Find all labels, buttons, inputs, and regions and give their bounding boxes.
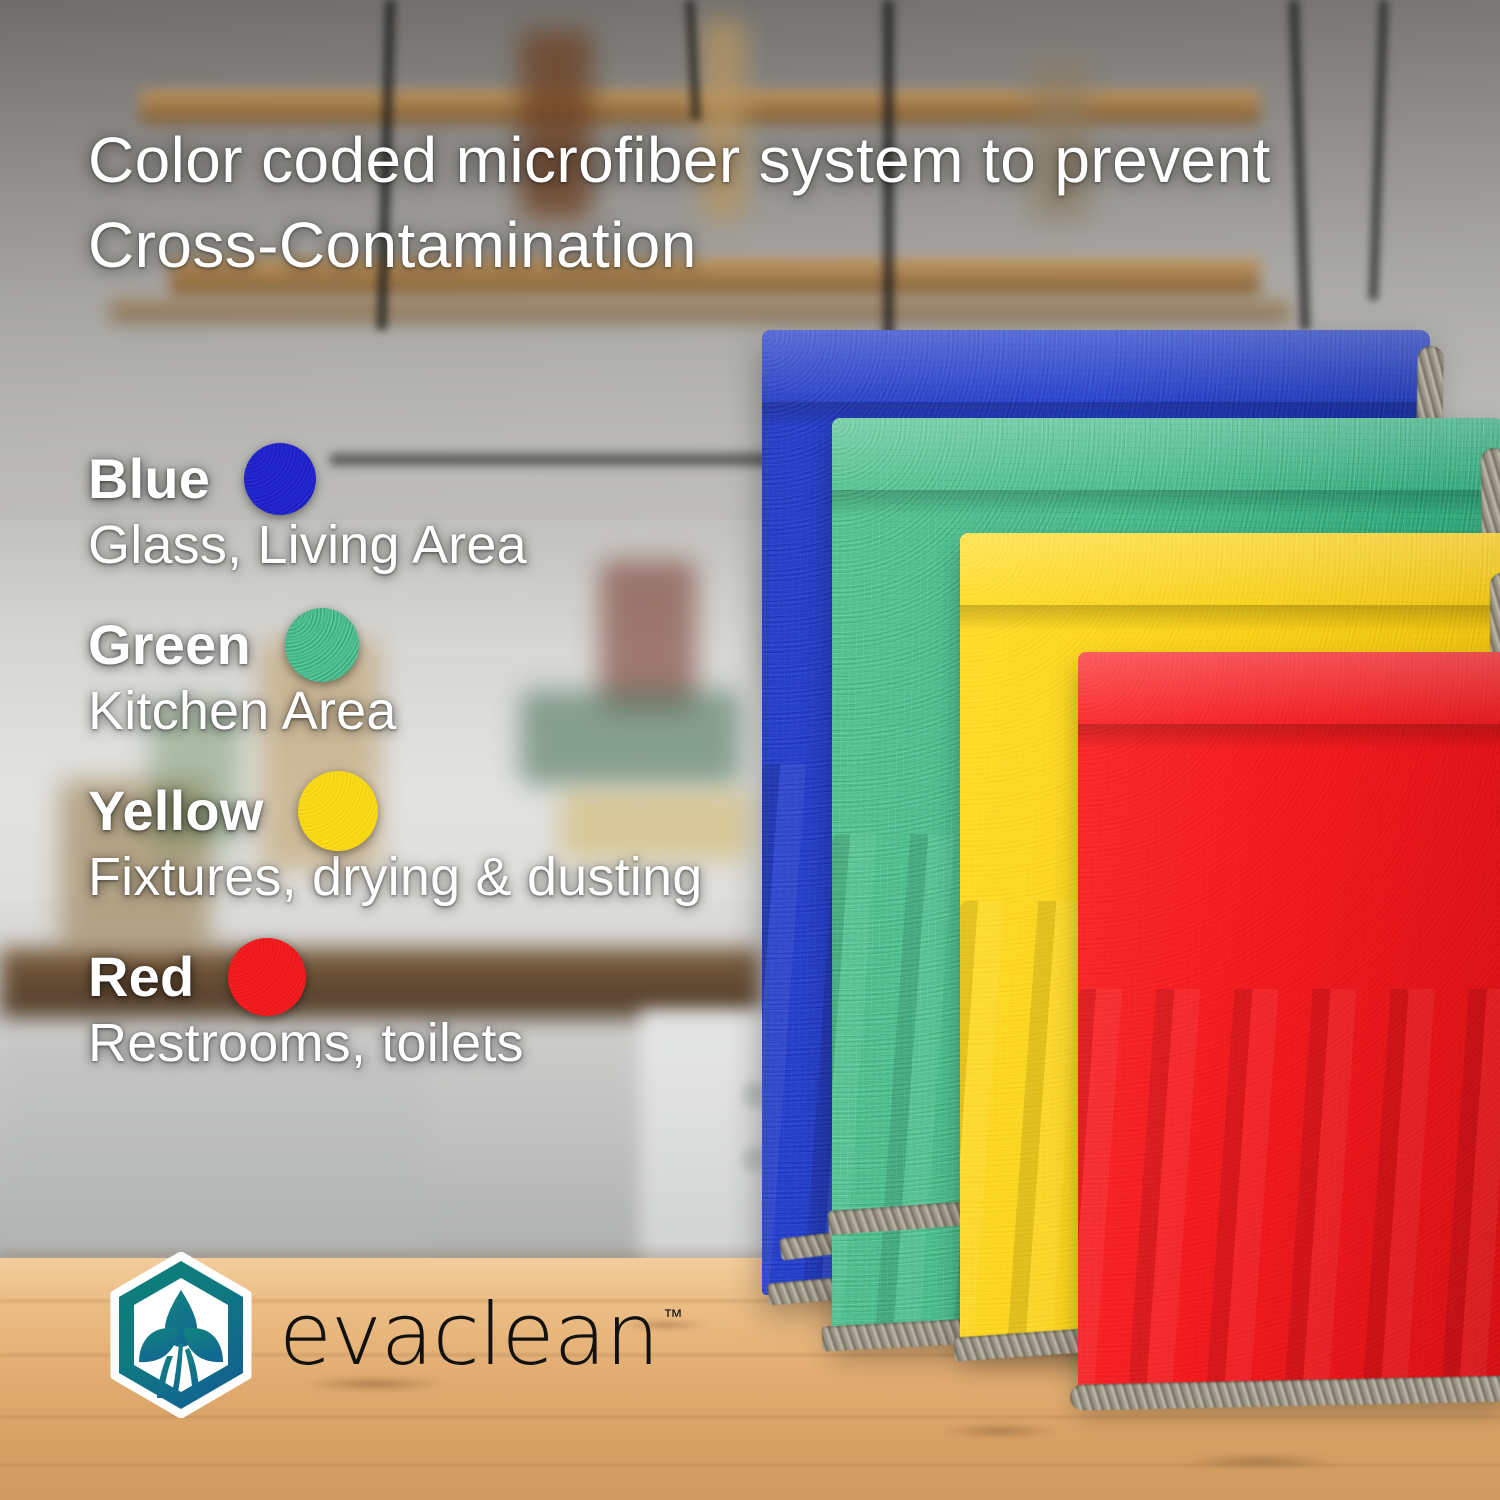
cloth-red bbox=[1078, 652, 1500, 1400]
brand-logo: evaclean ™ bbox=[105, 1252, 683, 1418]
legend-desc-green: Kitchen Area bbox=[88, 680, 848, 742]
color-swatch-yellow bbox=[298, 771, 378, 851]
legend-color-name-yellow: Yellow bbox=[88, 783, 264, 839]
headline-line-1: Color coded microfiber system to prevent bbox=[88, 118, 1438, 203]
legend-item-yellow: Yellow Fixtures, drying & dusting bbox=[88, 772, 848, 908]
color-code-legend: Blue Glass, Living Area Green Kitchen Ar… bbox=[88, 440, 848, 1104]
legend-item-red: Red Restrooms, toilets bbox=[88, 938, 848, 1074]
headline: Color coded microfiber system to prevent… bbox=[88, 118, 1438, 288]
headline-line-2: Cross-Contamination bbox=[88, 203, 1438, 288]
legend-color-name-red: Red bbox=[88, 949, 194, 1005]
color-swatch-green bbox=[285, 608, 359, 682]
brand-name: evaclean bbox=[279, 1292, 659, 1378]
hexagon-droplet-leaves-icon bbox=[105, 1252, 257, 1418]
legend-desc-red: Restrooms, toilets bbox=[88, 1012, 848, 1074]
legend-item-blue: Blue Glass, Living Area bbox=[88, 440, 848, 576]
product-infographic: Color coded microfiber system to prevent… bbox=[0, 0, 1500, 1500]
legend-desc-blue: Glass, Living Area bbox=[88, 514, 848, 576]
color-swatch-red bbox=[228, 938, 306, 1016]
legend-desc-yellow: Fixtures, drying & dusting bbox=[88, 846, 848, 908]
brand-wordmark: evaclean ™ bbox=[279, 1292, 683, 1378]
trademark-symbol: ™ bbox=[663, 1306, 683, 1329]
legend-color-name-green: Green bbox=[88, 617, 251, 673]
legend-color-name-blue: Blue bbox=[88, 451, 210, 507]
color-swatch-blue bbox=[244, 443, 316, 515]
legend-item-green: Green Kitchen Area bbox=[88, 606, 848, 742]
